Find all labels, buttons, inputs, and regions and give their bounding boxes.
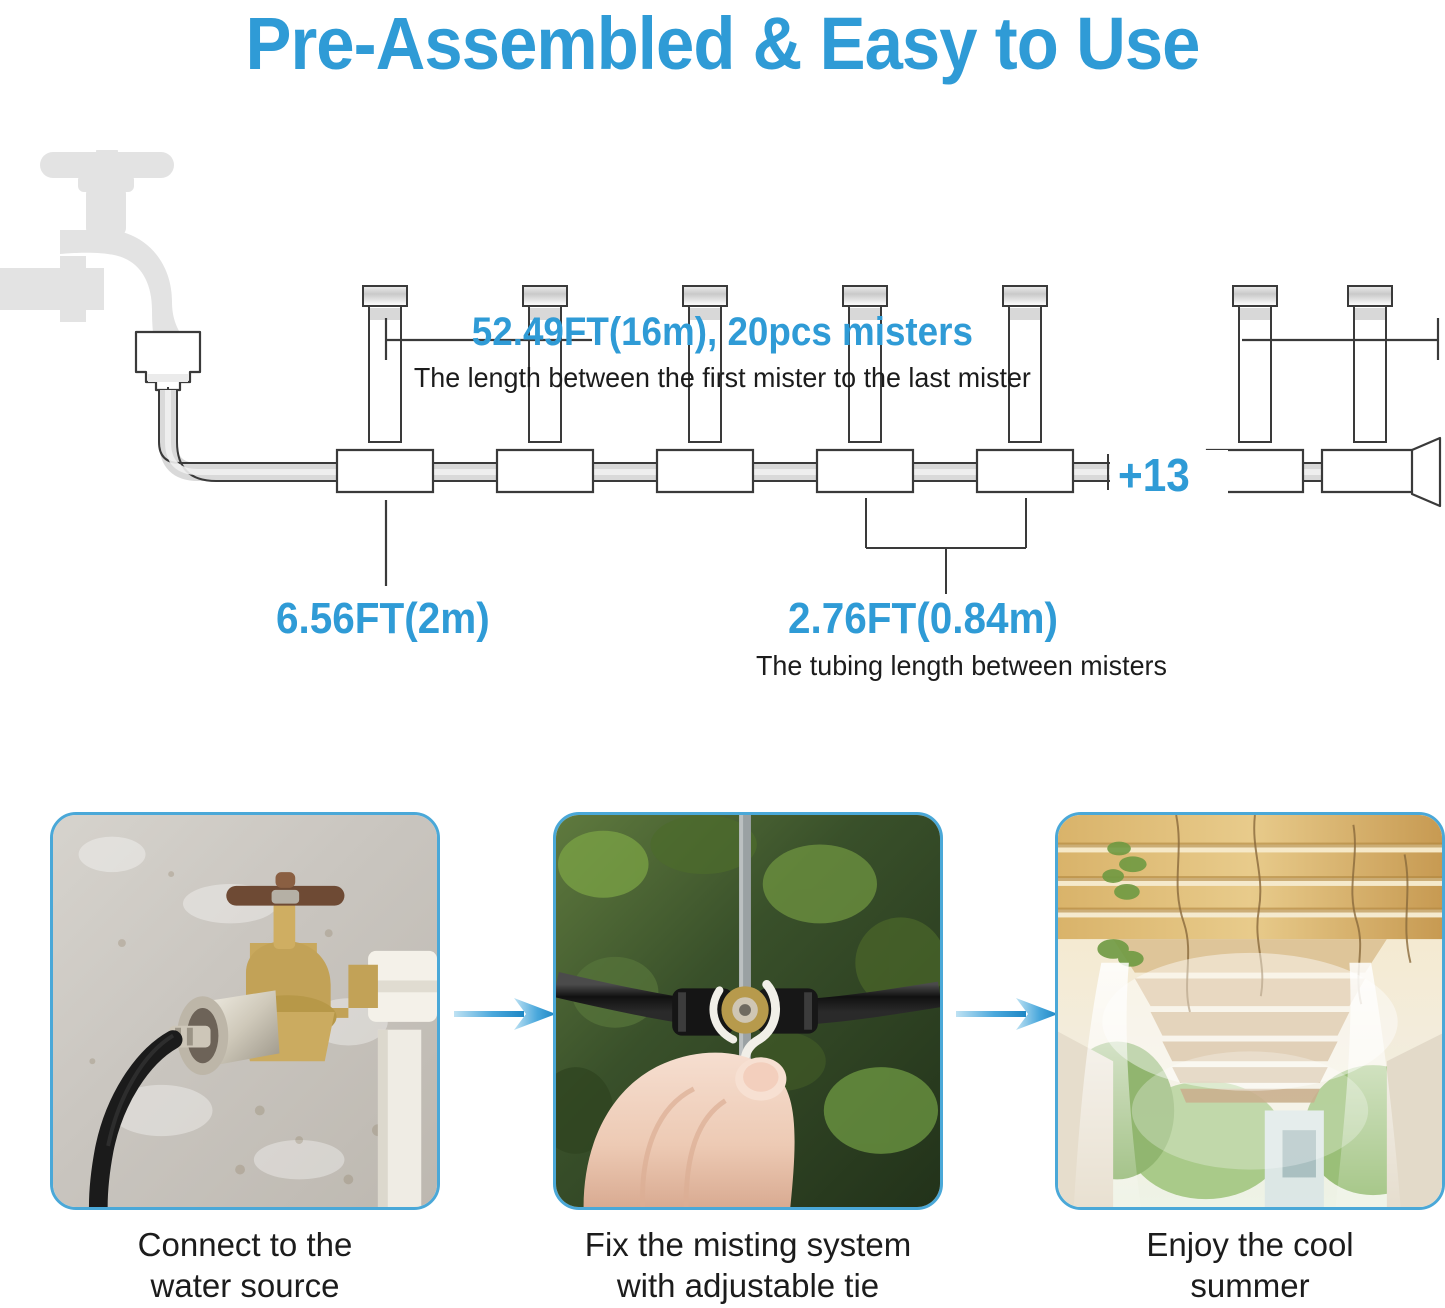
arrow-right-icon (954, 984, 1064, 1044)
pergola-misting-illustration (1058, 815, 1442, 1207)
photo-frame (553, 812, 943, 1210)
step-2-caption-line2: with adjustable tie (553, 1265, 943, 1306)
tube-end-cap-icon (1412, 438, 1440, 506)
lead-in-dimension-label: 6.56FT(2m) (276, 594, 490, 644)
step-2-photo (553, 812, 943, 1210)
arrow-right-icon (452, 984, 562, 1044)
step-2-caption-line1: Fix the misting system (553, 1224, 943, 1265)
diagram-illustration (0, 150, 1445, 710)
faucet-connection-illustration (53, 815, 437, 1207)
step-1-caption-line1: Connect to the (50, 1224, 440, 1265)
step-3-photo (1055, 812, 1445, 1210)
step-2-caption: Fix the misting system with adjustable t… (553, 1224, 943, 1306)
main-dimension-label: 52.49FT(16m), 20pcs misters (0, 310, 1445, 355)
zip-tie-mounting-illustration (556, 815, 940, 1207)
photo-frame (1055, 812, 1445, 1210)
spacing-dimension-label: 2.76FT(0.84m) (788, 594, 1058, 644)
spacing-dimension-description: The tubing length between misters (756, 650, 1167, 682)
page-title: Pre-Assembled & Easy to Use (51, 2, 1395, 86)
spacing-dimension-bracket (866, 498, 1026, 594)
photo-frame (50, 812, 440, 1210)
misting-system-diagram: 52.49FT(16m), 20pcs misters The length b… (0, 150, 1445, 710)
continuation-count-label: +13 (1118, 448, 1190, 502)
main-dimension-description: The length between the first mister to t… (0, 362, 1445, 394)
step-3-caption-line2: summer (1055, 1265, 1445, 1306)
step-1-caption-line2: water source (50, 1265, 440, 1306)
step-1-caption: Connect to the water source (50, 1224, 440, 1306)
steps-section: Connect to the water source (0, 812, 1445, 1308)
step-1-photo (50, 812, 440, 1210)
step-3-caption: Enjoy the cool summer (1055, 1224, 1445, 1306)
step-3-caption-line1: Enjoy the cool (1055, 1224, 1445, 1265)
